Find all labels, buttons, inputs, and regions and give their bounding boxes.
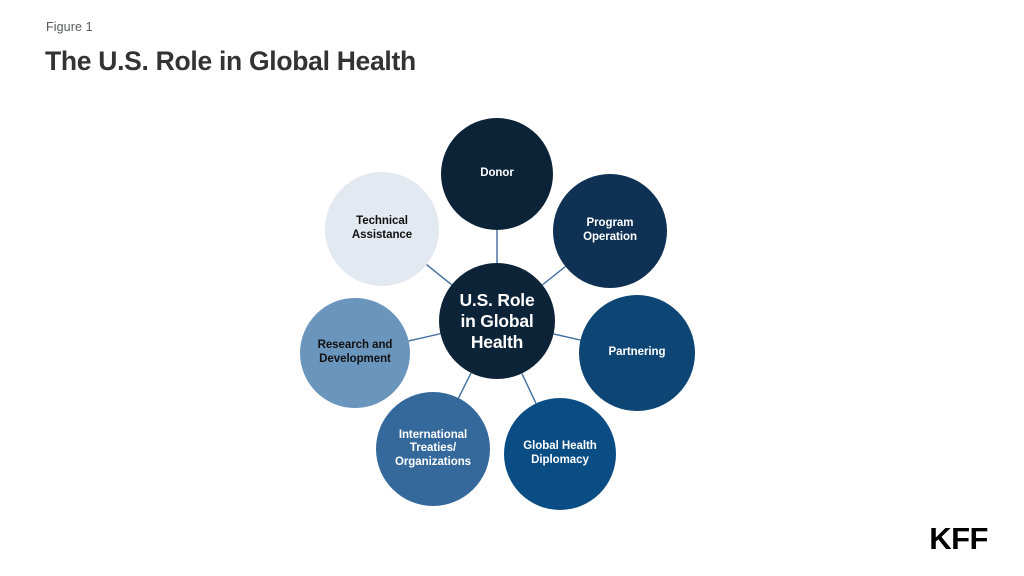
hub-and-spoke-diagram: U.S. Role in Global HealthDonorProgram O… — [0, 0, 1024, 576]
connector-line — [554, 334, 581, 340]
node-global-health-diplomacy-label: Global Health Diplomacy — [518, 440, 601, 467]
hub-node-us-role-in-global-health[interactable]: U.S. Role in Global Health — [439, 263, 555, 379]
node-technical-assistance-label: Technical Assistance — [347, 215, 417, 242]
node-technical-assistance[interactable]: Technical Assistance — [325, 172, 439, 286]
node-research-and-development-label: Research and Development — [313, 339, 398, 366]
node-donor-label: Donor — [475, 167, 519, 181]
slide-canvas: Figure 1 The U.S. Role in Global Health … — [0, 0, 1024, 576]
node-program-operation[interactable]: Program Operation — [553, 174, 667, 288]
connector-line — [427, 265, 452, 285]
node-global-health-diplomacy[interactable]: Global Health Diplomacy — [504, 398, 616, 510]
node-program-operation-label: Program Operation — [578, 217, 642, 244]
kff-logo: KFF — [929, 523, 988, 554]
node-donor[interactable]: Donor — [441, 118, 553, 230]
node-international-treaties-organizations[interactable]: International Treaties/ Organizations — [376, 392, 490, 506]
connector-line — [409, 334, 441, 341]
node-partnering[interactable]: Partnering — [579, 295, 695, 411]
node-international-treaties-organizations-label: International Treaties/ Organizations — [390, 429, 476, 470]
connector-line — [458, 373, 471, 398]
node-research-and-development[interactable]: Research and Development — [300, 298, 410, 408]
hub-node-us-role-in-global-health-label: U.S. Role in Global Health — [454, 290, 539, 353]
connector-line — [522, 373, 536, 403]
node-partnering-label: Partnering — [603, 346, 670, 360]
connector-line — [542, 267, 565, 285]
